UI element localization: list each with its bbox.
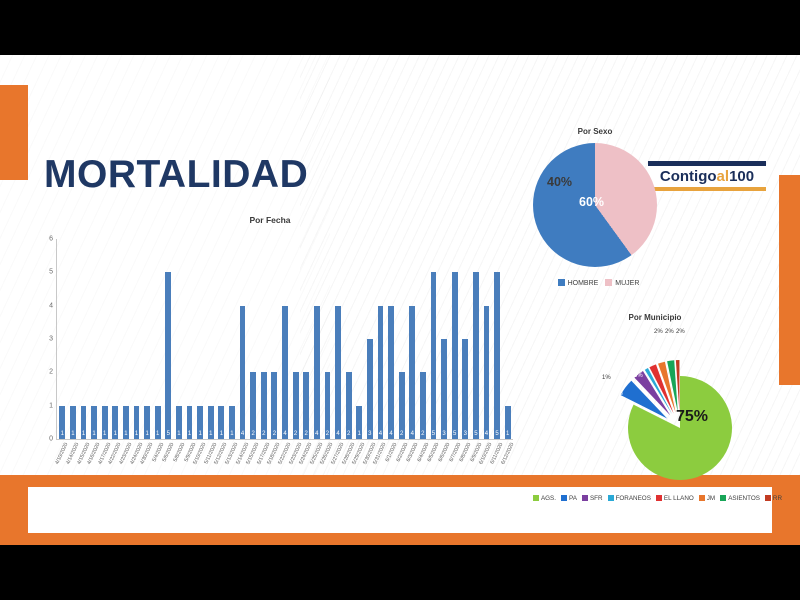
bar: 5 [452, 272, 458, 439]
bar-value-label: 5 [473, 431, 479, 437]
bar-value-label: 1 [208, 431, 214, 437]
bar-value-label: 1 [187, 431, 193, 437]
bar: 5 [165, 272, 171, 439]
bar-column: 1 [112, 239, 118, 439]
bar: 1 [176, 406, 182, 439]
bar-value-label: 2 [399, 431, 405, 437]
bar-value-label: 4 [335, 431, 341, 437]
page-title: MORTALIDAD [44, 153, 308, 197]
bar: 4 [484, 306, 490, 439]
bar-value-label: 2 [420, 431, 426, 437]
bar: 1 [70, 406, 76, 439]
sex-slice-label-mujer: 40% [547, 175, 572, 189]
bar-value-label: 2 [250, 431, 256, 437]
bar-column: 1 [134, 239, 140, 439]
bar: 4 [388, 306, 394, 439]
bar: 5 [473, 272, 479, 439]
bar-column: 2 [271, 239, 277, 439]
bar-value-label: 4 [314, 431, 320, 437]
municipality-pie [530, 323, 780, 503]
by-municipality-chart: Por Municipio 75% 5% 3% 1% 2% 2% 2% AGS.… [530, 313, 780, 513]
municipality-pie-slice [628, 376, 732, 480]
bar-column: 1 [197, 239, 203, 439]
bar-chart-plot-area: 012345614/10/202014/14/202014/15/202014/… [56, 239, 513, 440]
bar-column: 1 [218, 239, 224, 439]
municipality-legend: AGS.PASFRFORANEOSEL LLANOJMASIENTOSRR [512, 495, 798, 502]
bar-value-label: 1 [356, 431, 362, 437]
bar: 4 [282, 306, 288, 439]
bar-column: 4 [282, 239, 288, 439]
bar-value-label: 2 [271, 431, 277, 437]
bar-column: 1 [81, 239, 87, 439]
bar-column: 1 [59, 239, 65, 439]
bar-value-label: 2 [261, 431, 267, 437]
municipality-legend-swatch [533, 495, 539, 501]
bar-value-label: 2 [303, 431, 309, 437]
bar: 1 [229, 406, 235, 439]
slide-canvas: MORTALIDAD Contigoal100 Por Fecha 012345… [0, 55, 800, 545]
bar: 4 [409, 306, 415, 439]
municipality-legend-swatch [656, 495, 662, 501]
bar: 1 [356, 406, 362, 439]
bar: 5 [431, 272, 437, 439]
mortality-by-date-chart: Por Fecha 012345614/10/202014/14/202014/… [20, 215, 520, 475]
bar-value-label: 3 [367, 431, 373, 437]
muni-label-elllano: 2% [654, 329, 663, 335]
legend-swatch-mujer [605, 279, 612, 286]
bar: 4 [335, 306, 341, 439]
top-letterbox [0, 0, 800, 55]
bar: 1 [123, 406, 129, 439]
municipality-legend-swatch [765, 495, 771, 501]
bar-column: 5 [494, 239, 500, 439]
bar-value-label: 1 [218, 431, 224, 437]
bar-column: 5 [165, 239, 171, 439]
bar: 1 [59, 406, 65, 439]
logo-text-part2: al [717, 168, 730, 185]
municipality-legend-swatch [699, 495, 705, 501]
y-axis-tick: 0 [49, 436, 53, 443]
by-sex-chart: Por Sexo 60% 40% HOMBREMUJER [505, 127, 685, 307]
bar: 2 [325, 372, 331, 439]
bar: 2 [303, 372, 309, 439]
municipality-legend-label: FORANEOS [616, 495, 651, 502]
bar: 1 [208, 406, 214, 439]
bar-value-label: 1 [112, 431, 118, 437]
sex-slice-label-hombre: 60% [579, 195, 604, 209]
muni-label-asientos: 2% [676, 329, 685, 335]
bar: 1 [155, 406, 161, 439]
bar-column: 1 [102, 239, 108, 439]
bar-column: 5 [431, 239, 437, 439]
bar-column: 1 [91, 239, 97, 439]
bar: 2 [250, 372, 256, 439]
bar-column: 3 [367, 239, 373, 439]
bar: 4 [240, 306, 246, 439]
bar-value-label: 4 [388, 431, 394, 437]
bar-value-label: 5 [165, 431, 171, 437]
bar-value-label: 1 [70, 431, 76, 437]
municipality-legend-label: EL LLANO [664, 495, 694, 502]
orange-accent-right [779, 175, 800, 385]
bar-column: 5 [473, 239, 479, 439]
bar: 3 [441, 339, 447, 439]
bar-column: 1 [155, 239, 161, 439]
municipality-legend-swatch [561, 495, 567, 501]
bar-value-label: 1 [102, 431, 108, 437]
y-axis-tick: 1 [49, 402, 53, 409]
bar-value-label: 1 [134, 431, 140, 437]
bar-column: 4 [409, 239, 415, 439]
bar: 1 [505, 406, 511, 439]
municipality-legend-label: JM [707, 495, 715, 502]
y-axis-tick: 4 [49, 302, 53, 309]
bar-value-label: 1 [81, 431, 87, 437]
bar-value-label: 4 [409, 431, 415, 437]
bar-column: 2 [250, 239, 256, 439]
bar: 2 [420, 372, 426, 439]
bar: 1 [134, 406, 140, 439]
bar: 1 [112, 406, 118, 439]
bar-column: 3 [462, 239, 468, 439]
bar: 2 [271, 372, 277, 439]
muni-label-ags: 75% [676, 408, 708, 426]
bar-column: 1 [123, 239, 129, 439]
bar-column: 3 [441, 239, 447, 439]
bar-value-label: 4 [240, 431, 246, 437]
y-axis-tick: 5 [49, 269, 53, 276]
bottom-letterbox [0, 545, 800, 600]
bar-value-label: 1 [176, 431, 182, 437]
bar-value-label: 1 [123, 431, 129, 437]
bar-column: 2 [346, 239, 352, 439]
bar-value-label: 3 [462, 431, 468, 437]
bar: 1 [81, 406, 87, 439]
bar-column: 1 [187, 239, 193, 439]
bar: 3 [367, 339, 373, 439]
bar: 3 [462, 339, 468, 439]
bar-value-label: 1 [505, 431, 511, 437]
bar-column: 1 [208, 239, 214, 439]
bar-value-label: 3 [441, 431, 447, 437]
bar-value-label: 2 [346, 431, 352, 437]
bar: 5 [494, 272, 500, 439]
bar-value-label: 4 [484, 431, 490, 437]
bar-value-label: 4 [378, 431, 384, 437]
bar-column: 4 [335, 239, 341, 439]
municipality-legend-label: AGS. [541, 495, 556, 502]
bar-value-label: 2 [325, 431, 331, 437]
bar: 1 [197, 406, 203, 439]
bar-column: 2 [303, 239, 309, 439]
bar-value-label: 1 [59, 431, 65, 437]
bar-column: 1 [356, 239, 362, 439]
municipality-legend-label: SFR [590, 495, 603, 502]
bar-column: 1 [229, 239, 235, 439]
bar-column: 1 [144, 239, 150, 439]
sex-chart-title: Por Sexo [505, 127, 685, 136]
bar: 4 [314, 306, 320, 439]
bar: 2 [261, 372, 267, 439]
bar-column: 2 [420, 239, 426, 439]
bar-column: 2 [399, 239, 405, 439]
bar: 1 [187, 406, 193, 439]
bar-value-label: 1 [197, 431, 203, 437]
sex-legend: HOMBREMUJER [505, 279, 685, 287]
municipality-legend-label: RR [773, 495, 782, 502]
bar-value-label: 5 [494, 431, 500, 437]
municipality-legend-label: ASIENTOS [728, 495, 760, 502]
bar: 1 [102, 406, 108, 439]
legend-swatch-hombre [558, 279, 565, 286]
municipality-chart-title: Por Municipio [530, 313, 780, 322]
municipality-legend-label: PA [569, 495, 577, 502]
muni-label-pa: 5% [614, 391, 623, 397]
bar-column: 4 [388, 239, 394, 439]
y-axis-tick: 3 [49, 336, 53, 343]
muni-label-foraneos: 1% [602, 375, 611, 381]
bar-column: 4 [240, 239, 246, 439]
bar-value-label: 1 [155, 431, 161, 437]
bar: 4 [378, 306, 384, 439]
muni-label-jm: 2% [665, 329, 674, 335]
bar-column: 2 [325, 239, 331, 439]
bar-column: 4 [484, 239, 490, 439]
logo-text-part3: 100 [729, 168, 754, 185]
municipality-legend-swatch [582, 495, 588, 501]
bar-column: 1 [70, 239, 76, 439]
bar-column: 5 [452, 239, 458, 439]
y-axis-tick: 6 [49, 236, 53, 243]
bar-value-label: 2 [293, 431, 299, 437]
bar-value-label: 5 [452, 431, 458, 437]
municipality-legend-swatch [608, 495, 614, 501]
bar-value-label: 1 [144, 431, 150, 437]
bar: 1 [91, 406, 97, 439]
bar: 2 [293, 372, 299, 439]
bar: 1 [144, 406, 150, 439]
bar-chart-title: Por Fecha [20, 215, 520, 225]
bar-value-label: 4 [282, 431, 288, 437]
bar-column: 4 [378, 239, 384, 439]
bar-value-label: 5 [431, 431, 437, 437]
legend-label-mujer: MUJER [615, 280, 639, 287]
bar-column: 4 [314, 239, 320, 439]
bar: 1 [218, 406, 224, 439]
bar-value-label: 1 [229, 431, 235, 437]
bar: 2 [399, 372, 405, 439]
orange-accent-left [0, 85, 28, 180]
bar-column: 1 [176, 239, 182, 439]
y-axis-tick: 2 [49, 369, 53, 376]
municipality-legend-swatch [720, 495, 726, 501]
bar-column: 2 [261, 239, 267, 439]
bar-value-label: 1 [91, 431, 97, 437]
legend-label-hombre: HOMBRE [568, 280, 599, 287]
bar-column: 2 [293, 239, 299, 439]
bar: 2 [346, 372, 352, 439]
muni-label-sfr: 3% [634, 373, 643, 379]
